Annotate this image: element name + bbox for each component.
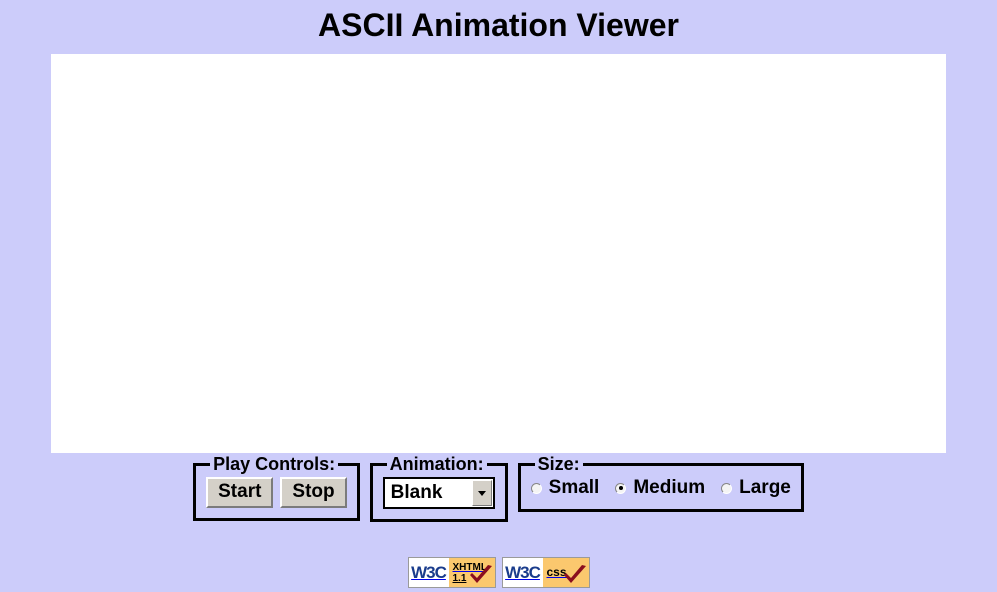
chevron-down-icon (478, 491, 486, 496)
animation-body: Blank (383, 477, 495, 509)
css-badge-text: css (543, 558, 589, 587)
xhtml-badge-line1: XHTML (453, 562, 495, 573)
radio-circle-icon[interactable] (721, 483, 732, 494)
animation-select-value: Blank (391, 482, 443, 504)
radio-circle-checked-icon[interactable] (615, 483, 626, 494)
xhtml-badge-line2: 1.1 (453, 573, 495, 584)
size-radio-medium[interactable]: Medium (615, 477, 705, 499)
w3c-css-badge[interactable]: W3C css (502, 557, 590, 588)
w3c-logo-text: W3C (411, 564, 446, 581)
size-radio-small[interactable]: Small (531, 477, 600, 499)
play-controls-group: Play Controls: Start Stop (193, 455, 360, 521)
size-body: Small Medium Large (531, 477, 791, 499)
size-group: Size: Small Medium Large (518, 455, 804, 512)
xhtml-badge-text: XHTML 1.1 (449, 558, 495, 587)
stop-button[interactable]: Stop (280, 477, 346, 508)
size-radio-medium-label: Medium (633, 477, 705, 499)
size-radio-large-label: Large (739, 477, 791, 499)
animation-select-dropdown-button[interactable] (472, 480, 492, 506)
radio-circle-icon[interactable] (531, 483, 542, 494)
w3c-logo-icon: W3C (409, 558, 449, 587)
validation-badges: W3C XHTML 1.1 W3C css (0, 557, 997, 588)
animation-group: Animation: Blank (370, 455, 508, 522)
play-controls-body: Start Stop (206, 477, 347, 508)
w3c-logo-text: W3C (505, 564, 540, 581)
start-button[interactable]: Start (206, 477, 273, 508)
size-radio-large[interactable]: Large (721, 477, 791, 499)
page-title: ASCII Animation Viewer (0, 5, 997, 45)
controls-row: Play Controls: Start Stop Animation: Bla… (0, 455, 997, 522)
size-radio-small-label: Small (549, 477, 600, 499)
animation-display (51, 54, 946, 453)
animation-select[interactable]: Blank (383, 477, 495, 509)
css-badge-label: css (547, 566, 589, 579)
w3c-logo-icon: W3C (503, 558, 543, 587)
play-controls-legend: Play Controls: (210, 455, 338, 473)
w3c-xhtml-badge[interactable]: W3C XHTML 1.1 (408, 557, 496, 588)
size-legend: Size: (535, 455, 583, 473)
animation-legend: Animation: (387, 455, 487, 473)
